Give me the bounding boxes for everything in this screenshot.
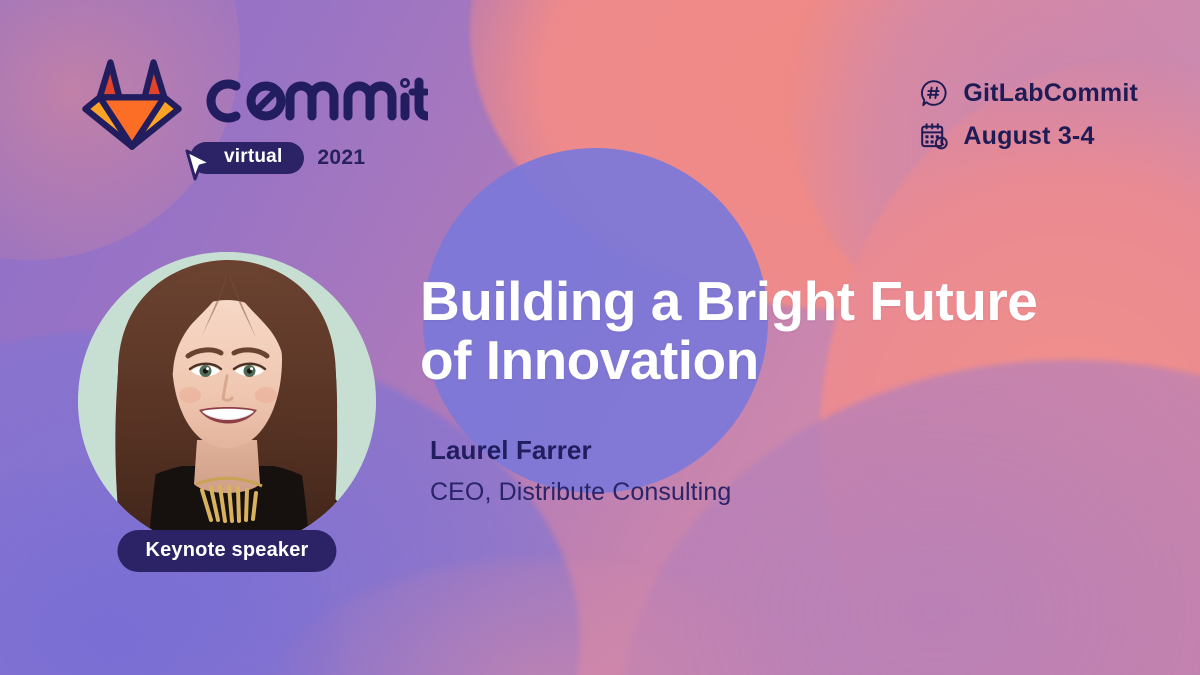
- hashtag-speech-bubble-icon: [919, 78, 949, 108]
- talk-title-line-2: of Innovation: [420, 329, 759, 391]
- event-meta: GitLabCommit: [919, 78, 1138, 151]
- calendar-clock-icon: [919, 121, 949, 151]
- date-row: August 3-4: [919, 121, 1094, 151]
- talk-title-line-1: Building a Bright Future: [420, 270, 1037, 332]
- commit-logo-lockup: [78, 48, 428, 152]
- page-title: Building a Bright Future of Innovation: [420, 272, 1140, 391]
- hashtag-label: GitLabCommit: [963, 79, 1138, 108]
- hashtag-row: GitLabCommit: [919, 78, 1138, 108]
- event-dates-label: August 3-4: [963, 122, 1094, 151]
- status-badge: Keynote speaker: [117, 530, 336, 572]
- commit-wordmark: [200, 70, 428, 132]
- speaker-role: CEO, Distribute Consulting: [430, 478, 1140, 507]
- year-label: 2021: [317, 146, 365, 170]
- talk-content: Building a Bright Future of Innovation L…: [420, 272, 1140, 507]
- virtual-year-row: virtual 2021: [190, 142, 365, 174]
- commit-speaker-slide: virtual 2021 GitLabCommit: [0, 0, 1200, 675]
- speaker-photo-block: Keynote speaker: [78, 252, 376, 550]
- cursor-arrow-icon: [182, 148, 216, 184]
- gitlab-tanuki-icon: [78, 48, 186, 152]
- avatar: [78, 252, 376, 550]
- speaker-name: Laurel Farrer: [430, 435, 1140, 466]
